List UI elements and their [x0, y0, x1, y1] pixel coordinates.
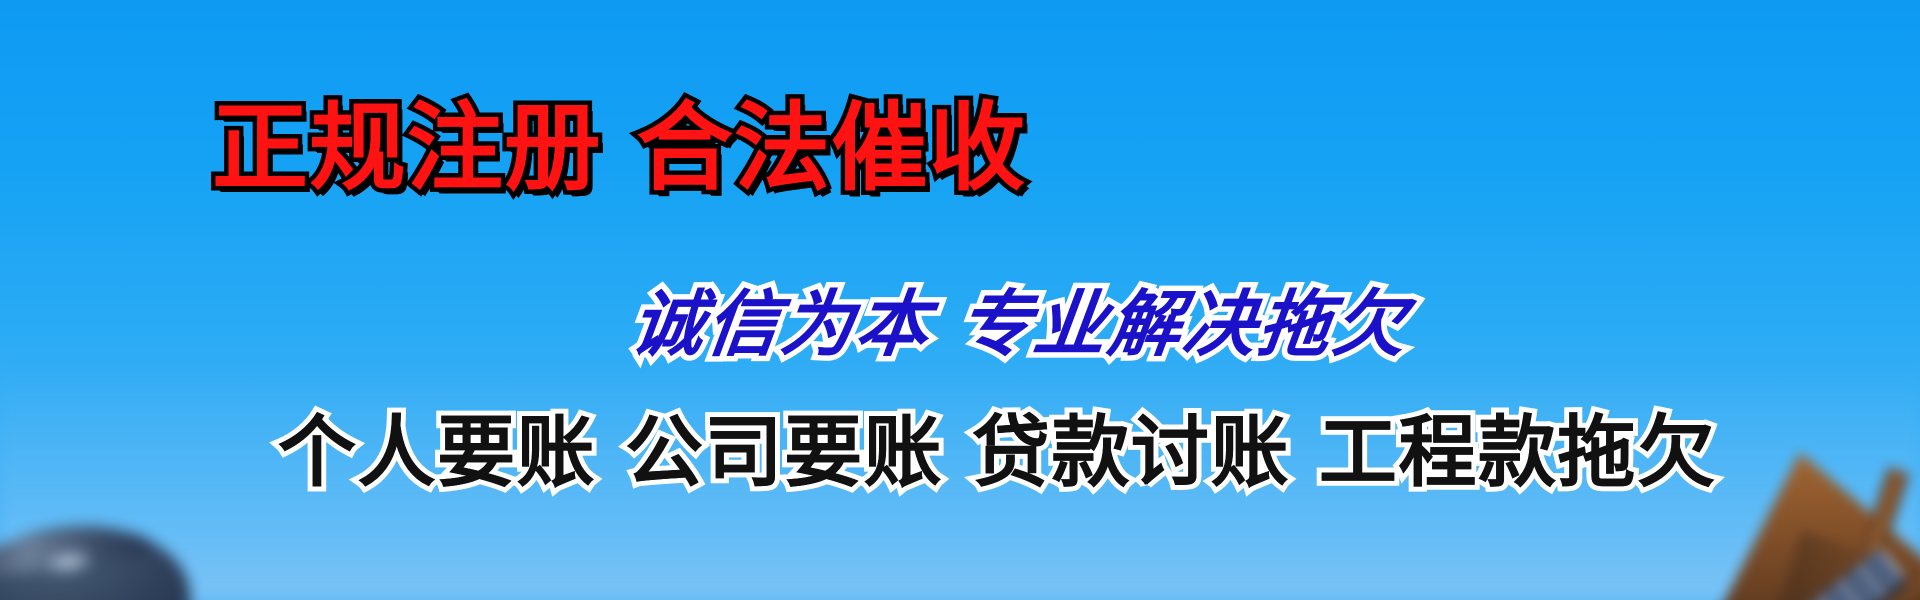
banner-tagline: 诚信为本 专业解决拖欠 诚信为本 专业解决拖欠	[628, 288, 1414, 360]
banner-services-fill: 个人要账 公司要账 贷款讨账 工程款拖欠	[278, 414, 1717, 492]
banner-text-stack: 正规注册 合法催收 正规注册 合法催收 诚信为本 专业解决拖欠 诚信为本 专业解…	[0, 0, 1920, 600]
banner-headline-fill: 正规注册 合法催收	[212, 100, 1026, 196]
banner-tagline-fill: 诚信为本 专业解决拖欠	[628, 288, 1414, 360]
promo-banner: 正规注册 合法催收 正规注册 合法催收 诚信为本 专业解决拖欠 诚信为本 专业解…	[0, 0, 1920, 600]
banner-headline: 正规注册 合法催收 正规注册 合法催收	[212, 100, 1026, 196]
banner-services: 个人要账 公司要账 贷款讨账 工程款拖欠 个人要账 公司要账 贷款讨账 工程款拖…	[278, 414, 1717, 492]
